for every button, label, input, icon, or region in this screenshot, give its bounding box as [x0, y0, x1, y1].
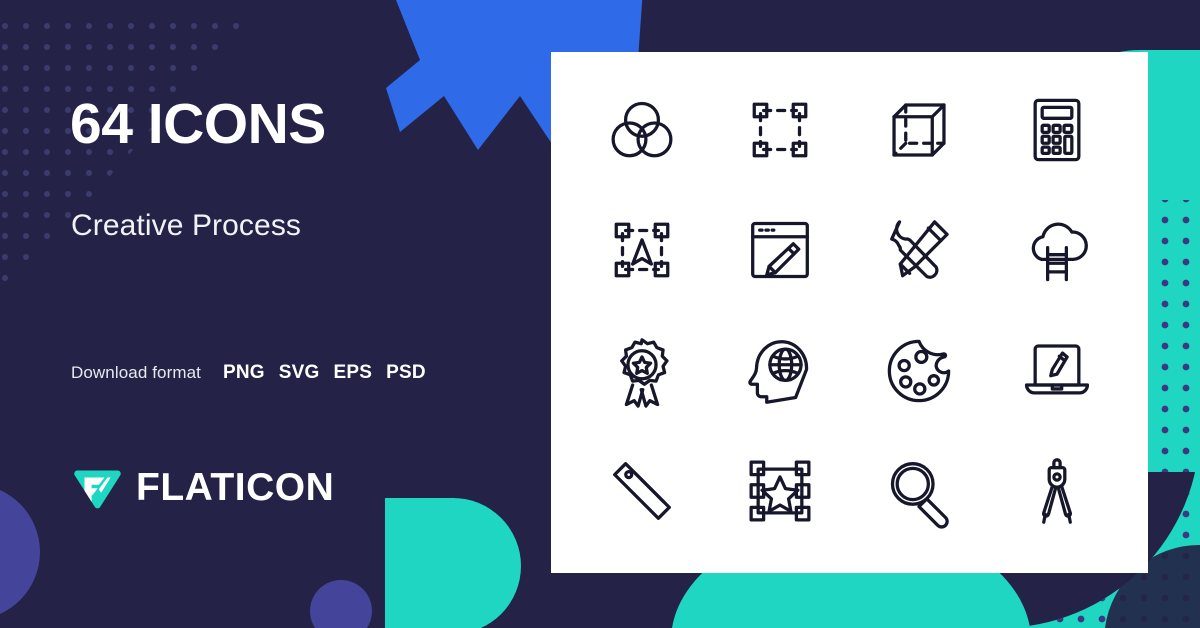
- page-subtitle: Creative Process: [71, 211, 301, 241]
- format-eps: EPS: [334, 362, 373, 384]
- icon-cell-award-badge: [573, 311, 711, 431]
- star-selection-icon: [741, 452, 819, 530]
- award-badge-icon: [603, 332, 681, 410]
- global-thinking-icon: [741, 332, 819, 410]
- format-svg: SVG: [279, 362, 320, 384]
- color-circles-icon: [603, 91, 681, 169]
- icon-cell-ruler: [573, 431, 711, 551]
- icon-cell-cursor-selection: [573, 190, 711, 310]
- selection-box-icon: [741, 91, 819, 169]
- icon-cell-cloud-ladder: [988, 190, 1126, 310]
- format-png: PNG: [223, 362, 265, 384]
- icon-cell-magnifying-glass: [850, 431, 988, 551]
- left-content-panel: 64 ICONS Creative Process Download forma…: [0, 0, 551, 628]
- magnifying-glass-icon: [880, 452, 958, 530]
- icon-cell-laptop-pencil: [988, 311, 1126, 431]
- cursor-selection-icon: [603, 211, 681, 289]
- ruler-icon: [603, 452, 681, 530]
- icon-cell-color-circles: [573, 70, 711, 190]
- cloud-ladder-icon: [1018, 211, 1096, 289]
- format-list: PNG SVG EPS PSD: [223, 362, 426, 384]
- flaticon-logo-icon: [72, 462, 122, 512]
- download-format-label: Download format: [71, 363, 201, 383]
- paint-palette-icon: [880, 332, 958, 410]
- wrench-pencil-icon: [880, 211, 958, 289]
- format-psd: PSD: [386, 362, 426, 384]
- promo-banner: 64 ICONS Creative Process Download forma…: [0, 0, 1200, 628]
- brand-name: FLATICON: [136, 468, 334, 507]
- icon-cell-calculator: [988, 70, 1126, 190]
- icon-cell-browser-edit: [711, 190, 849, 310]
- icon-cell-3d-cube: [850, 70, 988, 190]
- icon-cell-wrench-pencil: [850, 190, 988, 310]
- icon-grid: [551, 52, 1148, 573]
- compass-divider-icon: [1018, 452, 1096, 530]
- icon-cell-global-thinking: [711, 311, 849, 431]
- icon-cell-paint-palette: [850, 311, 988, 431]
- page-title: 64 ICONS: [70, 96, 326, 153]
- brand-logo: FLATICON: [72, 462, 334, 512]
- icon-cell-compass-divider: [988, 431, 1126, 551]
- download-format-row: Download format PNG SVG EPS PSD: [71, 362, 426, 384]
- browser-edit-icon: [741, 211, 819, 289]
- laptop-pencil-icon: [1018, 332, 1096, 410]
- icon-preview-card: [551, 52, 1148, 573]
- icon-cell-selection-box: [711, 70, 849, 190]
- 3d-cube-icon: [880, 91, 958, 169]
- icon-cell-star-selection: [711, 431, 849, 551]
- calculator-icon: [1018, 91, 1096, 169]
